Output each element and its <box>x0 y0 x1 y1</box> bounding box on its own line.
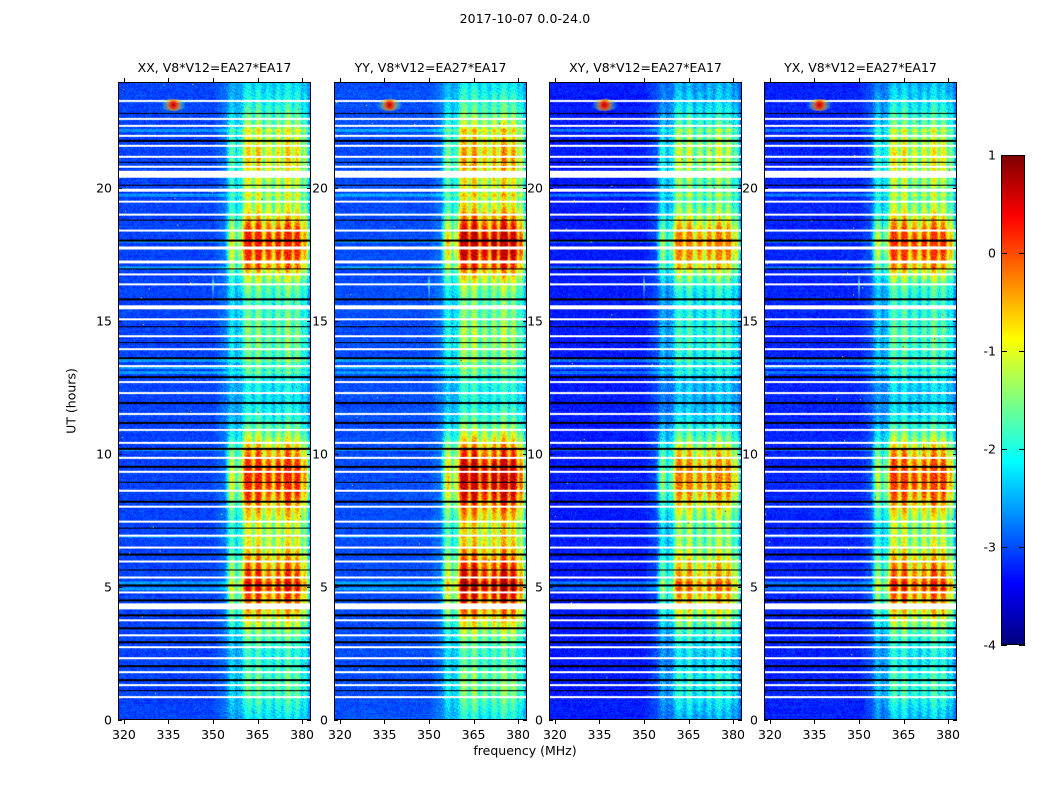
x-tick-mark-top <box>555 78 556 82</box>
x-tick-mark <box>644 720 645 724</box>
y-tick-mark-right <box>953 454 957 455</box>
y-tick-mark <box>334 720 338 721</box>
y-tick-mark <box>334 321 338 322</box>
x-tick-mark <box>859 720 860 724</box>
x-tick-mark-top <box>644 78 645 82</box>
x-tick-mark-top <box>733 78 734 82</box>
x-tick-mark-top <box>474 78 475 82</box>
panel-title-yx: YX, V8*V12=EA27*EA17 <box>764 60 957 75</box>
x-tick-label: 320 <box>112 727 136 742</box>
y-tick-label: 15 <box>82 314 112 329</box>
waterfall-image-xx <box>119 83 310 719</box>
x-tick-label: 350 <box>632 727 656 742</box>
x-tick-label: 350 <box>847 727 871 742</box>
x-tick-mark <box>384 720 385 724</box>
x-tick-mark-top <box>814 78 815 82</box>
x-tick-mark <box>814 720 815 724</box>
figure-canvas: 2017-10-07 0.0-24.0 XX, V8*V12=EA27*EA17… <box>0 0 1050 800</box>
x-tick-label: 380 <box>721 727 745 742</box>
y-tick-mark <box>764 454 768 455</box>
colorbar[interactable] <box>1001 155 1025 645</box>
y-tick-label: 0 <box>728 713 758 728</box>
x-tick-mark <box>770 720 771 724</box>
x-tick-label: 335 <box>157 727 181 742</box>
y-tick-label: 0 <box>513 713 543 728</box>
y-tick-mark <box>118 321 122 322</box>
x-tick-mark-top <box>518 78 519 82</box>
figure-suptitle: 2017-10-07 0.0-24.0 <box>0 11 1050 26</box>
colorbar-tick-mark <box>1019 645 1025 646</box>
y-tick-label: 20 <box>728 181 758 196</box>
y-tick-label: 10 <box>82 447 112 462</box>
waterfall-panel-xx[interactable] <box>118 82 311 720</box>
x-tick-label: 335 <box>373 727 397 742</box>
y-tick-label: 20 <box>82 181 112 196</box>
x-tick-label: 365 <box>677 727 701 742</box>
x-tick-mark-top <box>302 78 303 82</box>
waterfall-panel-yx[interactable] <box>764 82 957 720</box>
x-tick-label: 365 <box>892 727 916 742</box>
x-tick-mark-top <box>384 78 385 82</box>
waterfall-panel-xy[interactable] <box>549 82 742 720</box>
x-tick-label: 365 <box>246 727 270 742</box>
waterfall-panel-yy[interactable] <box>334 82 527 720</box>
y-tick-label: 0 <box>82 713 112 728</box>
panel-title-yy: YY, V8*V12=EA27*EA17 <box>334 60 527 75</box>
y-tick-mark <box>549 188 553 189</box>
y-tick-label: 20 <box>298 181 328 196</box>
y-tick-label: 15 <box>298 314 328 329</box>
y-tick-mark-right <box>953 587 957 588</box>
y-axis-label: UT (hours) <box>63 368 78 434</box>
x-tick-label: 350 <box>201 727 225 742</box>
y-tick-label: 15 <box>728 314 758 329</box>
x-tick-mark <box>258 720 259 724</box>
y-tick-mark <box>334 188 338 189</box>
y-tick-label: 5 <box>728 580 758 595</box>
x-tick-mark <box>599 720 600 724</box>
x-tick-mark-top <box>904 78 905 82</box>
y-tick-mark <box>764 188 768 189</box>
y-tick-label: 10 <box>513 447 543 462</box>
y-tick-mark <box>764 587 768 588</box>
colorbar-tick-mark <box>1001 645 1007 646</box>
y-tick-mark <box>118 587 122 588</box>
x-tick-mark <box>555 720 556 724</box>
y-tick-mark-right <box>953 720 957 721</box>
y-tick-label: 15 <box>513 314 543 329</box>
y-tick-label: 5 <box>82 580 112 595</box>
y-tick-mark <box>549 720 553 721</box>
x-tick-label: 320 <box>328 727 352 742</box>
y-tick-mark <box>764 321 768 322</box>
x-tick-mark <box>948 720 949 724</box>
x-tick-label: 380 <box>290 727 314 742</box>
x-tick-label: 350 <box>417 727 441 742</box>
y-tick-mark <box>334 587 338 588</box>
x-tick-mark <box>904 720 905 724</box>
x-tick-label: 335 <box>803 727 827 742</box>
x-tick-mark-top <box>258 78 259 82</box>
x-tick-mark <box>474 720 475 724</box>
x-tick-label: 335 <box>588 727 612 742</box>
y-tick-mark <box>118 454 122 455</box>
x-tick-mark-top <box>599 78 600 82</box>
y-tick-mark <box>764 720 768 721</box>
x-tick-mark-top <box>429 78 430 82</box>
y-tick-mark <box>549 321 553 322</box>
x-tick-mark-top <box>213 78 214 82</box>
x-tick-mark-top <box>340 78 341 82</box>
x-tick-mark <box>340 720 341 724</box>
x-axis-label: frequency (MHz) <box>0 743 1050 758</box>
x-tick-label: 320 <box>758 727 782 742</box>
x-tick-mark-top <box>770 78 771 82</box>
x-tick-label: 380 <box>506 727 530 742</box>
waterfall-image-yy <box>335 83 526 719</box>
x-tick-label: 365 <box>462 727 486 742</box>
y-tick-label: 5 <box>298 580 328 595</box>
colorbar-gradient <box>1002 156 1024 644</box>
y-tick-mark <box>334 454 338 455</box>
x-tick-label: 320 <box>543 727 567 742</box>
y-tick-label: 10 <box>728 447 758 462</box>
y-tick-label: 20 <box>513 181 543 196</box>
y-axis-label-wrap: UT (hours) <box>52 82 82 720</box>
y-tick-mark-right <box>953 321 957 322</box>
x-tick-mark-top <box>859 78 860 82</box>
x-tick-mark <box>429 720 430 724</box>
panel-title-xx: XX, V8*V12=EA27*EA17 <box>118 60 311 75</box>
panel-title-xy: XY, V8*V12=EA27*EA17 <box>549 60 742 75</box>
x-tick-mark-top <box>689 78 690 82</box>
y-tick-mark <box>549 454 553 455</box>
y-tick-mark <box>118 720 122 721</box>
x-tick-mark <box>168 720 169 724</box>
y-tick-label: 5 <box>513 580 543 595</box>
y-tick-label: 10 <box>298 447 328 462</box>
y-tick-mark <box>118 188 122 189</box>
x-tick-mark <box>689 720 690 724</box>
y-tick-label: 0 <box>298 713 328 728</box>
x-tick-mark-top <box>948 78 949 82</box>
colorbar-label-wrap: log10 amplitude <box>1026 155 1050 645</box>
y-tick-mark-right <box>953 188 957 189</box>
x-tick-mark <box>213 720 214 724</box>
x-tick-mark <box>124 720 125 724</box>
waterfall-image-xy <box>550 83 741 719</box>
x-tick-mark-top <box>124 78 125 82</box>
y-tick-mark <box>549 587 553 588</box>
x-tick-label: 380 <box>936 727 960 742</box>
x-tick-mark-top <box>168 78 169 82</box>
waterfall-image-yx <box>765 83 956 719</box>
